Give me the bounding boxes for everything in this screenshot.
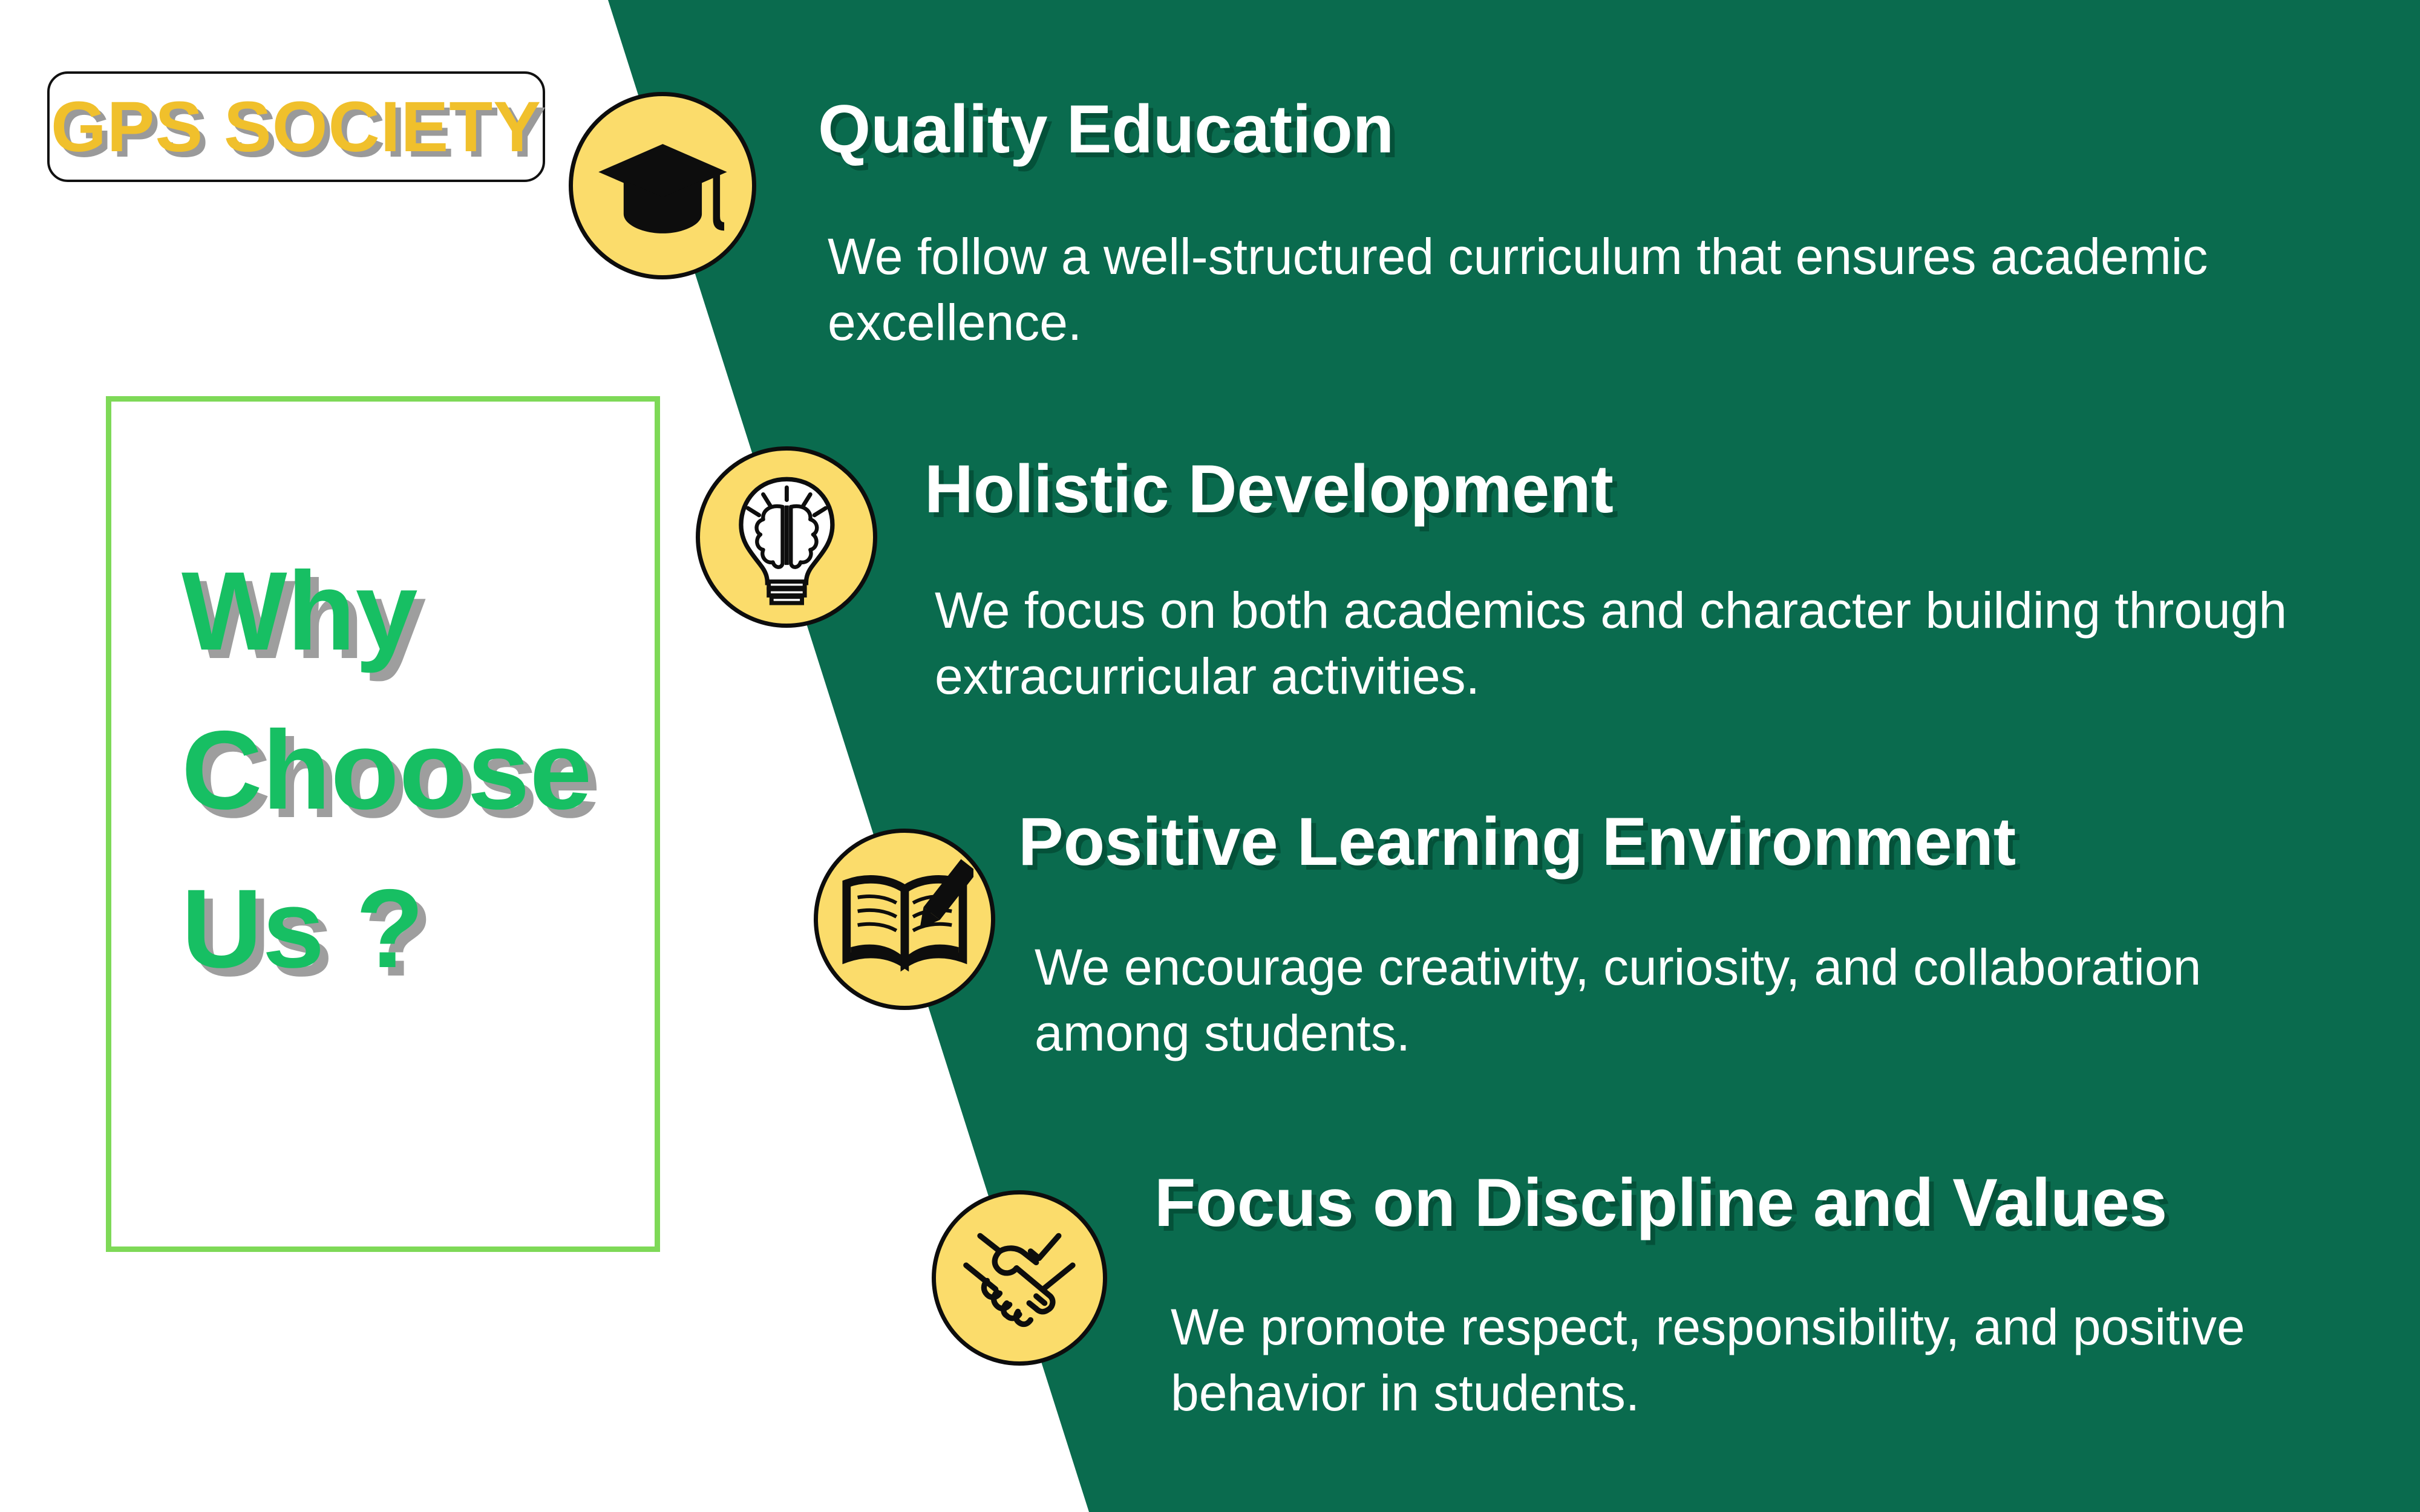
feature-title: Quality Education (818, 94, 1394, 165)
feature-body: We encourage creativity, curiosity, and … (1035, 934, 2366, 1066)
graduation-cap-icon (569, 92, 756, 279)
handshake-icon (932, 1190, 1107, 1366)
feature-body: We focus on both academics and character… (935, 578, 2338, 709)
feature-title: Focus on Discipline and Values (1154, 1167, 2167, 1239)
feature-title: Holistic Development (924, 454, 1614, 525)
feature-body: We promote respect, responsibility, and … (1171, 1294, 2381, 1426)
logo-badge[interactable]: GPS SOCIETY (47, 71, 545, 182)
open-book-pencil-icon (814, 829, 995, 1010)
headline-line-3: Us ? (181, 850, 907, 1009)
logo-text: GPS SOCIETY (51, 91, 541, 163)
slide-canvas: GPS SOCIETY Why Choose Us ? Quality Educ… (0, 0, 2420, 1512)
lightbulb-brain-icon (696, 446, 877, 628)
feature-body: We follow a well-structured curriculum t… (828, 224, 2231, 356)
feature-title: Positive Learning Environment (1018, 806, 2016, 878)
headline-line-2: Choose (181, 691, 907, 850)
